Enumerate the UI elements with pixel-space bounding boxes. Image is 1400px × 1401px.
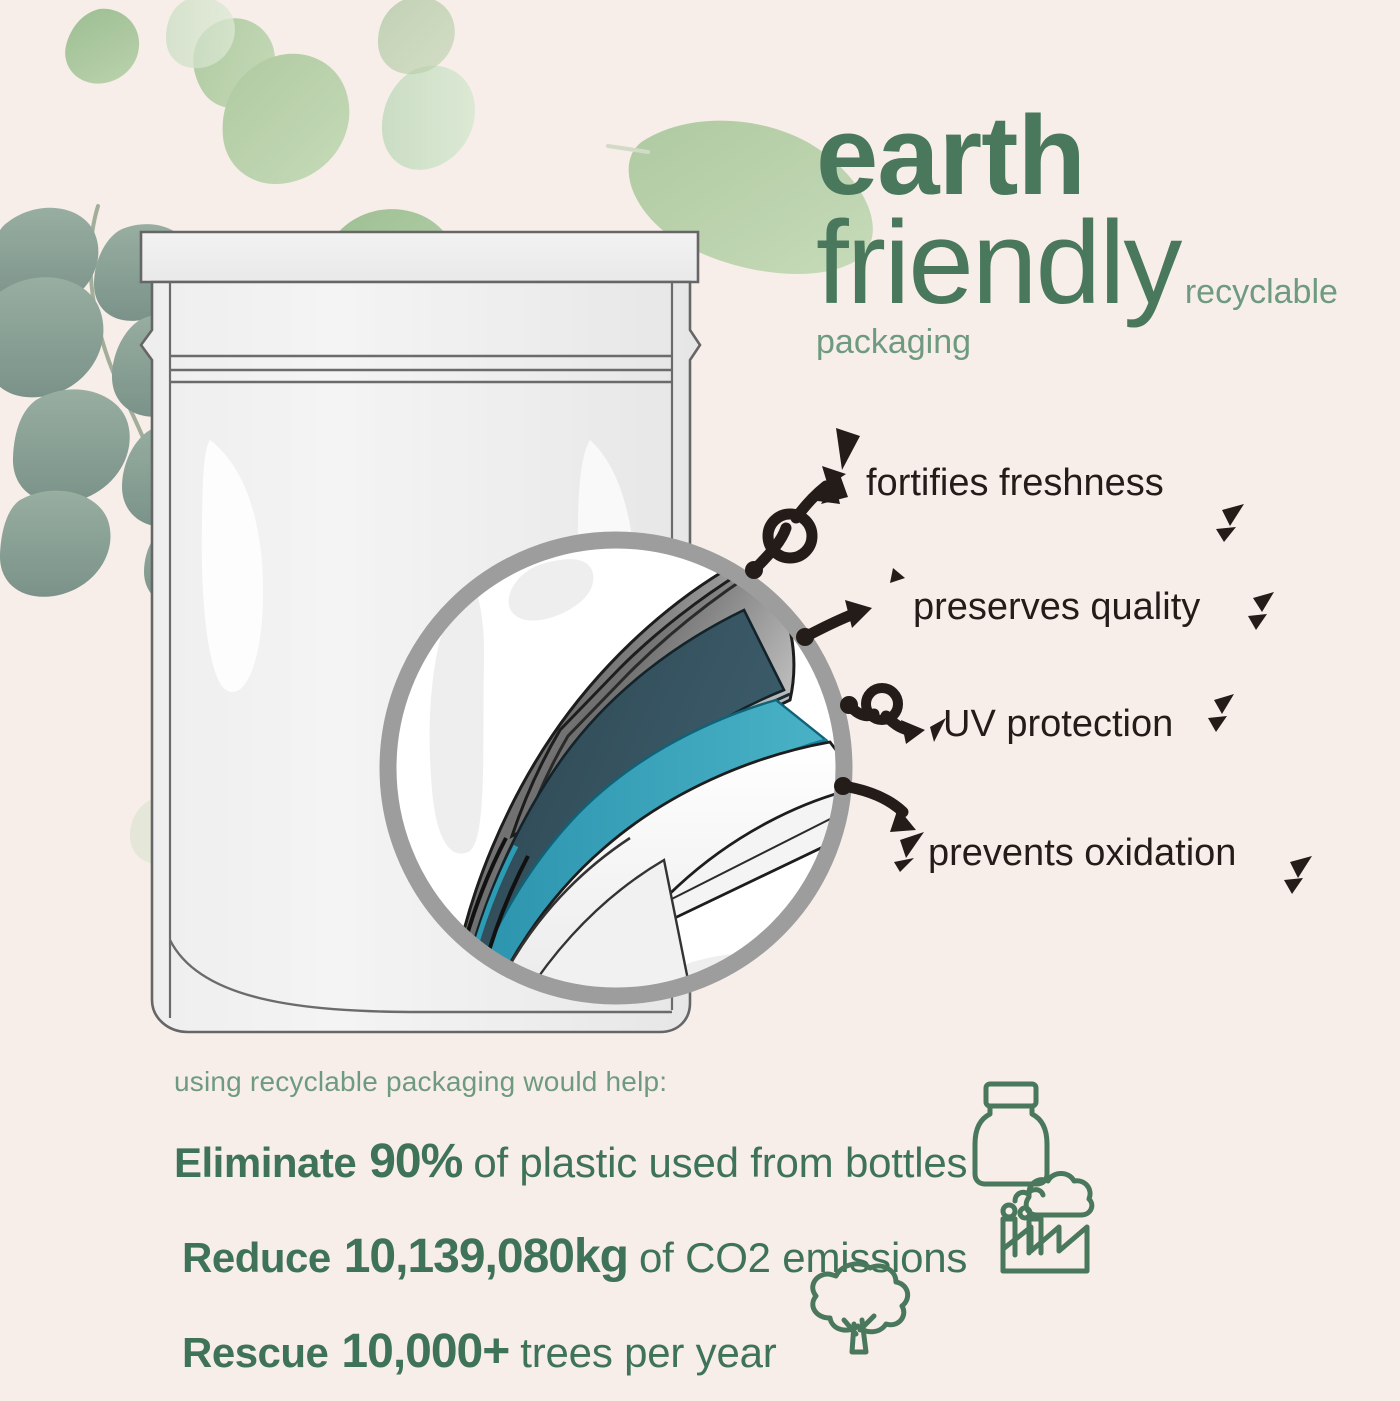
curve-down-arrow-tail (843, 786, 903, 812)
headline-line-friendly: friendly (816, 197, 1180, 329)
arrow4-anchor-dot (834, 777, 852, 795)
stat-verb: Reduce (182, 1234, 331, 1282)
arrow2-anchor-dot (796, 628, 814, 646)
stat-verb: Eliminate (174, 1139, 356, 1187)
feature-label-fortifies-freshness: fortifies freshness (866, 462, 1164, 504)
arrow3-head (901, 720, 925, 744)
arrow3-anchor-dot (840, 696, 858, 714)
stat-tail: of plastic used from bottles (473, 1139, 967, 1187)
factory-icon (985, 1167, 1105, 1277)
arrow1-anchor-dot (745, 561, 763, 579)
feature-label-prevents-oxidation: prevents oxidation (928, 832, 1236, 874)
stat-row-rescue: Rescue 10,000+ trees per year (182, 1324, 1234, 1379)
feature-label-preserves-quality: preserves quality (913, 586, 1200, 628)
feature-label-uv-protection: UV protection (943, 703, 1173, 745)
arrow2-head (845, 600, 872, 628)
tree-icon (798, 1254, 914, 1362)
headline-block: earth friendly recyclable packaging (816, 108, 1376, 362)
stat-number: 10,000+ (341, 1324, 509, 1379)
infographic-canvas: earth friendly recyclable packaging fort… (0, 0, 1400, 1401)
stat-number: 90% (369, 1134, 462, 1189)
stat-verb: Rescue (182, 1329, 328, 1377)
stat-tail: trees per year (520, 1329, 776, 1377)
stats-intro: using recyclable packaging would help: (174, 1066, 667, 1097)
stat-number: 10,139,080kg (344, 1229, 628, 1284)
